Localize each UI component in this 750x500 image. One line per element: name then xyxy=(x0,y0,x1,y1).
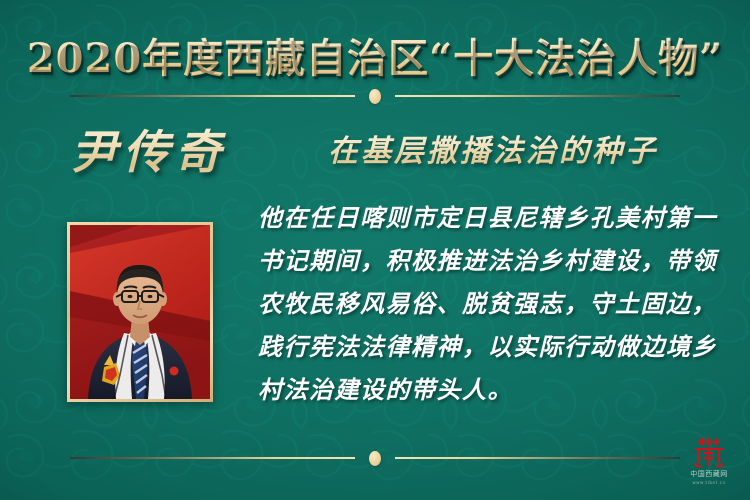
divider-line-right xyxy=(395,457,680,459)
award-poster: 2020年度西藏自治区“十大法治人物” 尹传奇 在基层撒播法治的种子 xyxy=(0,0,750,500)
divider-dot-icon xyxy=(369,451,381,466)
divider-dot-icon xyxy=(369,89,381,104)
divider-bottom xyxy=(0,448,750,468)
poster-title: 2020年度西藏自治区“十大法治人物” xyxy=(27,26,723,84)
divider-line-left xyxy=(70,457,355,459)
portrait-photo xyxy=(70,225,210,399)
divider-line-left xyxy=(70,95,355,97)
citation-line: 村法治建设的带头人。 xyxy=(258,368,728,411)
portrait-frame xyxy=(67,222,213,402)
brand-latin-name: www.tibet.cn xyxy=(682,479,736,486)
divider-line-right xyxy=(395,95,680,97)
brand-logo: 中国西藏网 www.tibet.cn xyxy=(682,436,736,486)
honoree-name: 尹传奇 xyxy=(34,116,264,182)
poster-title-container: 2020年度西藏自治区“十大法治人物” xyxy=(0,26,750,84)
citation-text: 他在任日喀则市定日县尼辖乡孔美村第一 书记期间，积极推进法治乡村建设，带领 农牧… xyxy=(258,196,728,411)
brand-name: 中国西藏网 xyxy=(682,470,736,479)
divider-top xyxy=(0,86,750,106)
poster-subtitle: 在基层撒播法治的种子 xyxy=(262,126,724,170)
citation-line: 农牧民移风易俗、脱贫强志，守土固边， xyxy=(258,282,728,325)
citation-line: 践行宪法法律精神，以实际行动做边境乡 xyxy=(258,325,728,368)
citation-line: 书记期间，积极推进法治乡村建设，带领 xyxy=(258,239,728,282)
china-tibet-net-seal-icon xyxy=(682,436,736,468)
citation-line: 他在任日喀则市定日县尼辖乡孔美村第一 xyxy=(258,196,728,239)
